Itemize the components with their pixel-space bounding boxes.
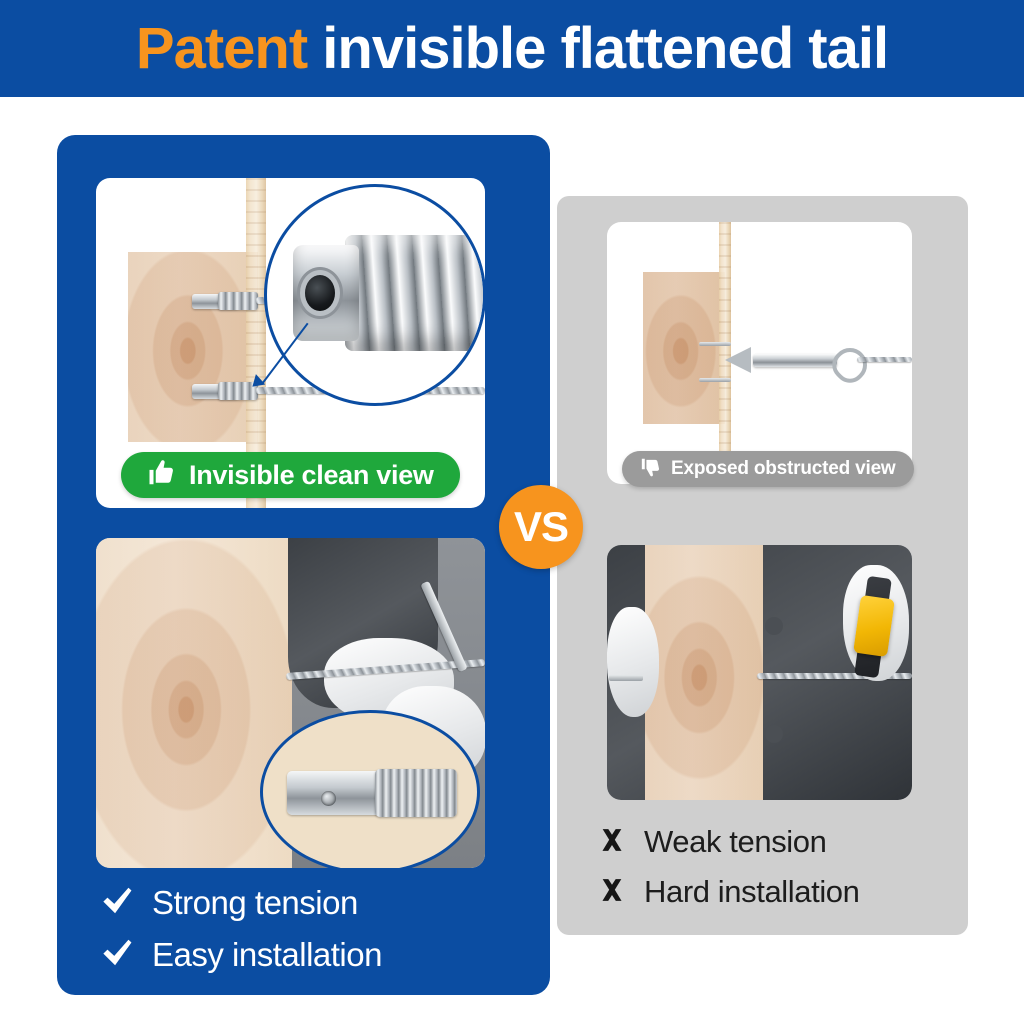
header-banner: Patent invisible flattened tail xyxy=(0,0,1024,97)
check-icon xyxy=(100,938,134,973)
lag-screw-upper xyxy=(699,342,731,346)
list-item-label: Easy installation xyxy=(152,936,382,974)
turnbuckle-ring xyxy=(826,341,874,389)
x-icon xyxy=(598,827,626,858)
turnbuckle-body xyxy=(753,354,837,367)
magnified-fitting-callout xyxy=(260,710,480,868)
lag-screw-lower xyxy=(699,378,731,382)
thumbs-down-icon xyxy=(640,456,662,483)
fitting-threads xyxy=(375,769,457,817)
stud-hole xyxy=(305,275,335,311)
list-item: Hard installation xyxy=(598,874,958,910)
list-item-label: Weak tension xyxy=(644,824,826,860)
gloved-hand-left xyxy=(607,607,659,717)
infographic-stage: Patent invisible flattened tail xyxy=(0,0,1024,1024)
check-icon xyxy=(100,886,134,921)
easy-installation-photo xyxy=(96,538,485,868)
jacket-button-upper xyxy=(765,617,783,635)
list-item-label: Hard installation xyxy=(644,874,859,910)
wood-cap xyxy=(639,222,727,274)
list-item-label: Strong tension xyxy=(152,884,358,922)
steel-cable xyxy=(857,357,912,362)
x-icon xyxy=(598,877,626,908)
wood-post-face xyxy=(643,272,725,424)
wood-cap xyxy=(114,178,264,256)
turnbuckle-jaw xyxy=(725,347,751,373)
list-item: Weak tension xyxy=(598,824,958,860)
wood-post-face xyxy=(128,252,258,442)
magnified-stud-callout xyxy=(264,184,485,406)
threaded-stud-upper xyxy=(218,292,258,310)
lag-screw xyxy=(609,675,643,681)
badge-label: Invisible clean view xyxy=(189,460,434,491)
exposed-turnbuckle-photo xyxy=(607,222,912,484)
photo-scene xyxy=(607,222,912,484)
page-title: Patent invisible flattened tail xyxy=(136,20,888,78)
set-screw-icon xyxy=(321,791,336,806)
jacket-button-lower xyxy=(765,725,783,743)
stud-threads xyxy=(345,235,485,351)
list-item: Easy installation xyxy=(100,936,480,974)
status-badge-exposed-obstructed-view: Exposed obstructed view xyxy=(622,451,914,487)
thumbs-up-icon xyxy=(147,458,177,493)
pros-list: Strong tension Easy installation xyxy=(100,884,480,988)
fitting-body xyxy=(287,771,383,815)
title-rest: invisible flattened tail xyxy=(322,16,888,81)
cons-list: Weak tension Hard installation xyxy=(598,824,958,924)
wood-board xyxy=(96,538,292,868)
hard-installation-photo xyxy=(607,545,912,800)
status-badge-invisible-clean-view: Invisible clean view xyxy=(121,452,460,498)
title-highlight: Patent xyxy=(136,16,307,81)
vs-badge: VS xyxy=(499,485,583,569)
list-item: Strong tension xyxy=(100,884,480,922)
photo-scene xyxy=(607,545,912,800)
badge-label: Exposed obstructed view xyxy=(671,458,896,480)
wood-board xyxy=(645,545,763,800)
photo-scene xyxy=(96,538,485,868)
